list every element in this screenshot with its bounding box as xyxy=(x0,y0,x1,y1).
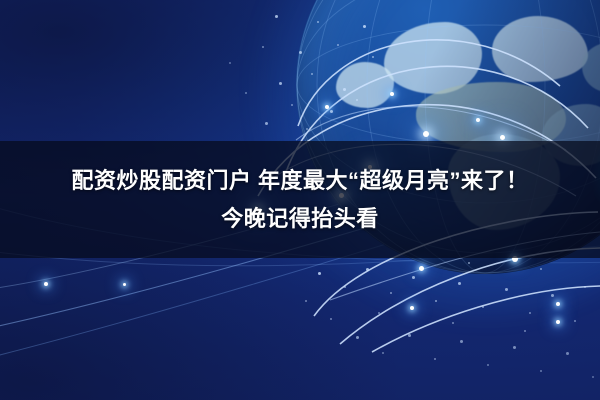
caption-line-1: 配资炒股配资门户 年度最大“超级月亮”来了！ xyxy=(71,164,528,198)
arc-node xyxy=(390,92,394,96)
glow-star xyxy=(423,131,429,137)
arc-node xyxy=(556,302,560,306)
caption-text: 配资炒股配资门户 年度最大“超级月亮”来了！ 今晚记得抬头看 xyxy=(0,141,600,258)
caption-line-2: 今晚记得抬头看 xyxy=(221,202,379,236)
arc-node xyxy=(476,118,480,122)
arc-node xyxy=(410,306,414,310)
arc-node xyxy=(325,105,329,109)
glow-star xyxy=(500,135,505,140)
arc-node xyxy=(44,282,48,286)
banner-image: 配资炒股配资门户 年度最大“超级月亮”来了！ 今晚记得抬头看 xyxy=(0,0,600,400)
arc-node xyxy=(419,266,424,271)
arc-node xyxy=(123,283,126,286)
arc-node xyxy=(556,320,560,324)
